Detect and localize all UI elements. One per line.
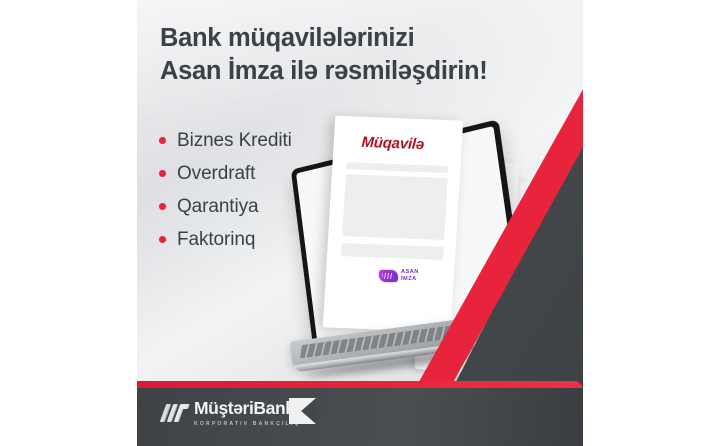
document-placeholder-block	[342, 174, 448, 240]
list-item-label: Qarantiya	[177, 196, 258, 218]
brand-name: MüştəriBank	[194, 400, 300, 418]
headline-line-2: Asan İmza ilə rəsmiləşdirin!	[160, 55, 572, 88]
headline-line-1: Bank müqavilələrinizi	[160, 24, 414, 52]
list-item-label: Faktorinq	[177, 229, 255, 251]
brand-logo-text: MüştəriBank KORPORATIV BANKÇILIQ	[194, 400, 300, 427]
list-item-label: Biznes Krediti	[177, 130, 292, 152]
contract-document: Müqavilə	[323, 116, 464, 333]
screenshot-canvas: Bank müqavilələrinizi Asan İmza ilə rəsm…	[0, 0, 720, 446]
bullet-dot-icon	[159, 203, 166, 210]
bullet-dot-icon	[159, 137, 166, 144]
page-title: Bank müqavilələrinizi Asan İmza ilə rəsm…	[160, 22, 572, 87]
bank-promo-banner: Bank müqavilələrinizi Asan İmza ilə rəsm…	[137, 0, 583, 446]
asan-imza-label-line-1: ASAN	[401, 270, 419, 276]
bullet-dot-icon	[159, 236, 166, 243]
asan-imza-label: ASAN İMZA	[401, 270, 419, 282]
footer-bar: MüştəriBank KORPORATIV BANKÇILIQ	[137, 388, 583, 446]
bullet-dot-icon	[159, 170, 166, 177]
kapital-k-mark-icon	[289, 398, 316, 424]
asan-imza-icon	[379, 270, 398, 282]
laptop-illustration: Müqavilə ASAN İMZA ASAN İMZA	[307, 118, 583, 393]
brand-tagline: KORPORATIV BANKÇILIQ	[194, 421, 300, 427]
document-placeholder-line	[346, 162, 448, 173]
document-placeholder-line	[341, 243, 444, 260]
list-item-label: Overdraft	[177, 163, 255, 185]
brand-logo: MüştəriBank KORPORATIV BANKÇILIQ	[163, 400, 300, 427]
document-title: Müqavilə	[333, 133, 452, 155]
musteribank-logo-icon	[163, 402, 189, 424]
asan-imza-badge: ASAN İMZA	[379, 270, 419, 282]
asan-imza-label-line-2: İMZA	[401, 277, 419, 283]
